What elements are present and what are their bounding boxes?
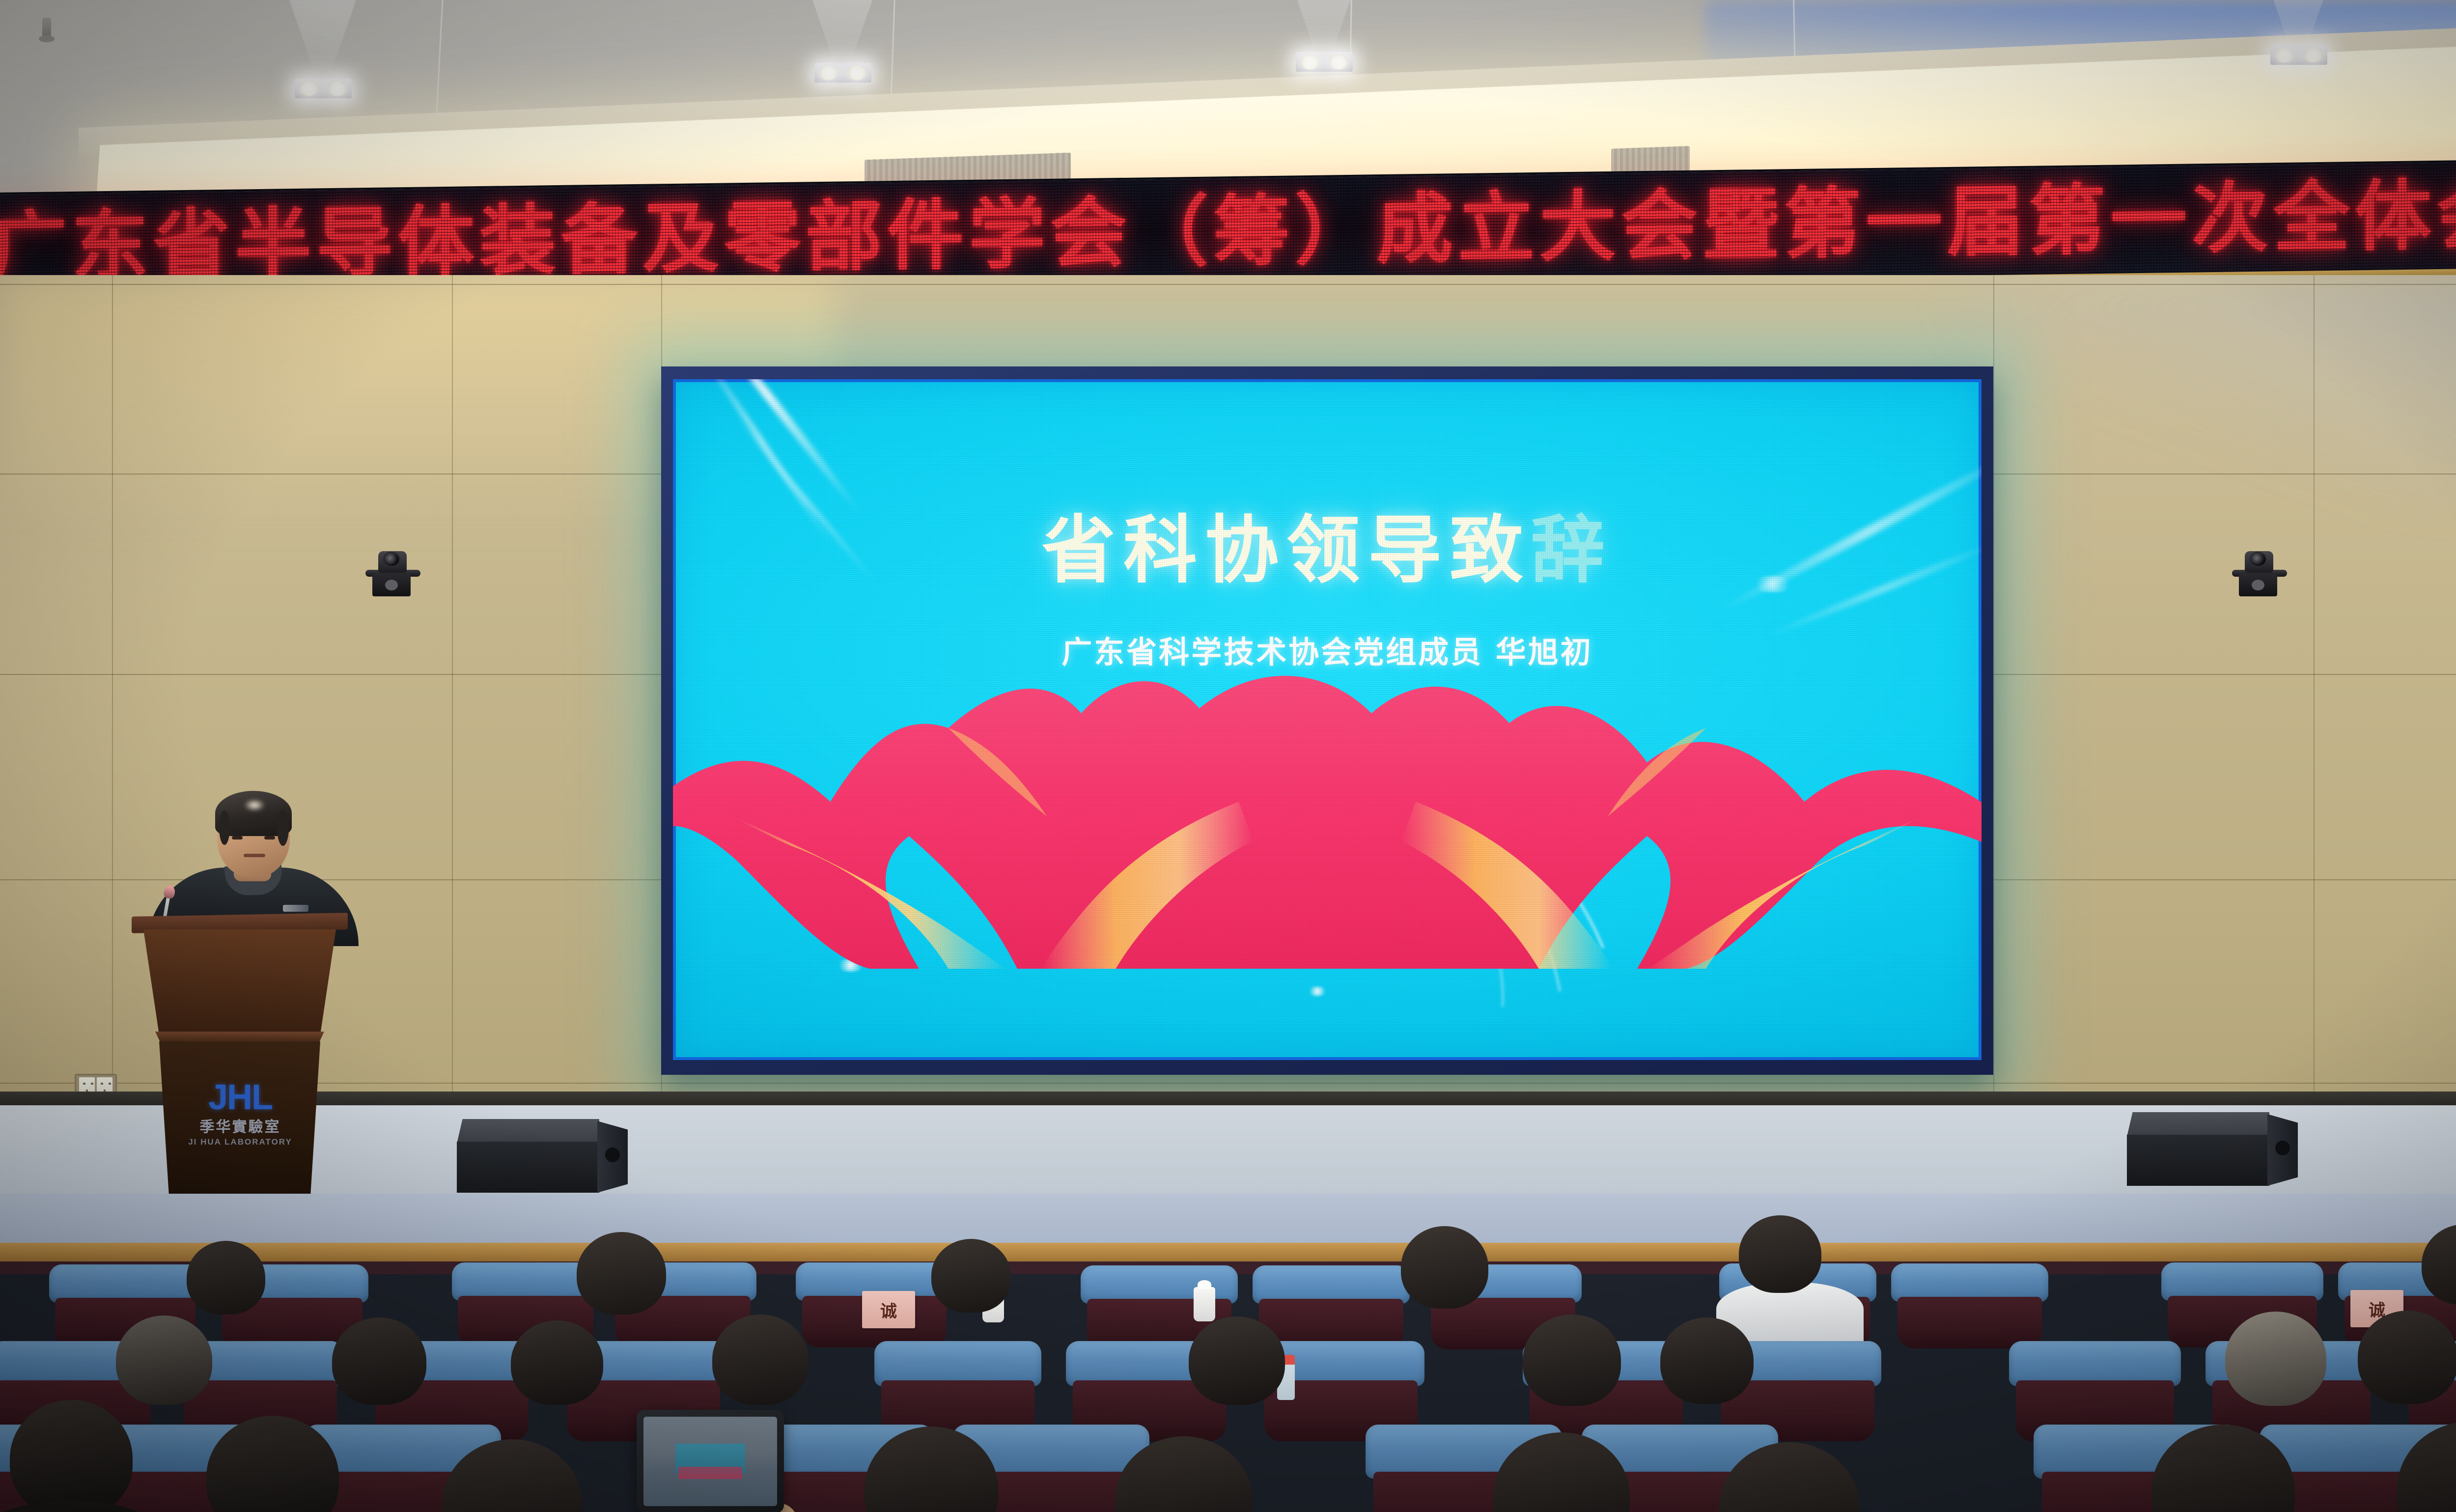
slide-title-fading-char: 辞 (1531, 508, 1613, 593)
audience-head (10, 1400, 133, 1512)
audience-wood-rail (0, 1243, 2456, 1263)
camera-bracket (2239, 574, 2277, 596)
seat-cushion (1891, 1263, 2048, 1302)
speaker-head-highlight (244, 799, 265, 812)
speaker-grille (2127, 1135, 2269, 1186)
tablet-screen (643, 1417, 777, 1506)
podium-logo-name-cn: 季华實驗室 (184, 1120, 297, 1135)
tablet-preview-ribbon (678, 1467, 743, 1479)
audience-head (116, 1316, 212, 1405)
audience-head (2358, 1311, 2456, 1404)
stage-monitor-speaker (457, 1119, 599, 1193)
recessed-downlight (2270, 45, 2327, 65)
audience-head (1660, 1317, 1754, 1404)
recessed-downlight (295, 79, 352, 98)
seat-cushion (2009, 1341, 2181, 1386)
conference-hall-photo: 广东省半导体装备及零部件学会（筹）成立大会暨第一届第一次全体会员大会 (0, 0, 2456, 1512)
slide-title: 省科协领导致辞 (673, 511, 1982, 590)
camera-bracket (372, 574, 411, 596)
led-display-screen: 省科协领导致辞 广东省科学技术协会党组成员 华旭初 (661, 366, 1993, 1075)
audience-head (1739, 1215, 1821, 1293)
water-cup (1194, 1287, 1215, 1321)
speaker-side-panel (2267, 1114, 2298, 1186)
audience-head (1401, 1226, 1488, 1309)
speaker-mouth (244, 854, 265, 857)
podium-front-panel (143, 929, 336, 1033)
slide-subtitle: 广东省科学技术协会党组成员 华旭初 (673, 627, 1982, 672)
wall-panel-seam (2314, 275, 2315, 1169)
led-banner-text: 广东省半导体装备及零部件学会（筹）成立大会暨第一届第一次全体会员大会 (0, 169, 2456, 291)
speaker-lapel-badge (283, 905, 308, 912)
slide-title-main: 省科协领导 (1042, 508, 1450, 593)
seat-name-card: 诚 (862, 1291, 915, 1328)
recessed-downlight (814, 63, 871, 83)
screen-glow-dot (1307, 986, 1328, 996)
audience-head (511, 1320, 603, 1405)
seat-cushion (49, 1264, 201, 1303)
speaker-person (147, 785, 359, 932)
audience-head (577, 1232, 666, 1315)
podium-mid-trim (155, 1032, 324, 1042)
podium: JHL 季华實驗室 JI HUA LABORATORY (137, 915, 343, 1204)
podium-logo: JHL 季华實驗室 JI HUA LABORATORY (184, 1080, 297, 1146)
slide-ribbon-graphic (673, 654, 1982, 969)
wall-panel-seam (0, 284, 2456, 285)
speaker-hair (215, 791, 292, 836)
podium-logo-mark: JHL (184, 1080, 297, 1115)
downlight-beam (286, 0, 360, 84)
audience-head (712, 1315, 809, 1405)
audience-head (1189, 1316, 1285, 1405)
audience-head (187, 1241, 265, 1315)
speaker-grille (457, 1142, 599, 1193)
audience-head (1523, 1315, 1621, 1406)
camera-lens-icon (2251, 553, 2265, 566)
podium-logo-name-en: JI HUA LABORATORY (184, 1138, 297, 1146)
auditorium-seat[interactable] (1891, 1263, 2048, 1347)
camera-lens-icon (384, 553, 399, 566)
audience-head (332, 1317, 426, 1405)
recessed-downlight (1296, 52, 1353, 72)
seat-cushion (1253, 1265, 1410, 1304)
speaker-eye (264, 836, 275, 840)
tablet-device[interactable] (637, 1410, 784, 1512)
slide-title-mid: 致 (1450, 508, 1531, 593)
seat-cushion (2161, 1262, 2323, 1301)
seat-cushion (874, 1341, 1041, 1386)
wall-panel-seam (1993, 275, 1994, 1169)
wall-panel-seam (112, 275, 113, 1169)
screen-surface: 省科协领导致辞 广东省科学技术协会党组成员 华旭初 (673, 379, 1982, 1060)
sprinkler-head (42, 18, 51, 38)
speaker-top-panel (457, 1119, 599, 1144)
wall-cool-light (1951, 275, 2456, 511)
audience-head (931, 1239, 1011, 1313)
wall-panel-seam (0, 1083, 2456, 1084)
ptz-camera (2230, 550, 2289, 596)
audience-area: 诚 诚 (0, 1194, 2456, 1512)
audience-head (2225, 1312, 2326, 1406)
wall-panel-seam (452, 275, 453, 1169)
ptz-camera (363, 550, 422, 596)
speaker-eye (232, 836, 243, 840)
speaker-side-panel (597, 1121, 628, 1193)
stage-monitor-speaker (2127, 1112, 2269, 1186)
speaker-top-panel (2127, 1112, 2269, 1137)
